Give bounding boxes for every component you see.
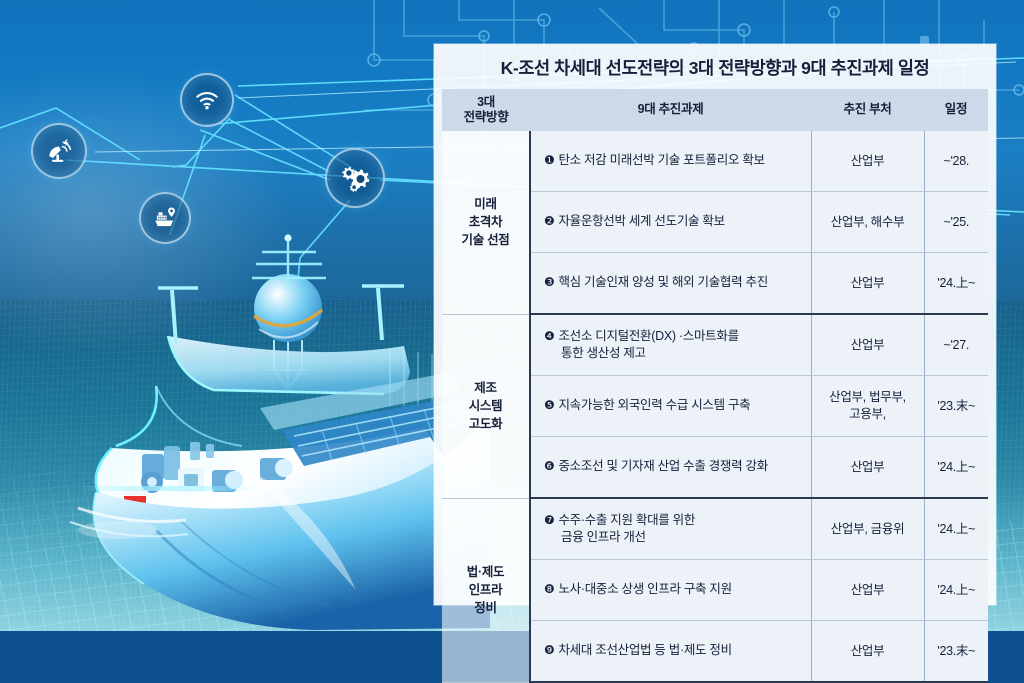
ship-glow [80, 486, 260, 491]
department-line: 산업부, 금융위 [818, 521, 918, 538]
table-row: 법·제도인프라정비❼수주·수출 지원 확대를 위한금융 인프라 개선산업부, 금… [442, 498, 988, 560]
department-cell: 산업부 [811, 253, 924, 315]
table-header-row: 3대 전략방향 9대 추진과제 추진 부처 일정 [442, 89, 988, 131]
strategic-direction-cell: 미래초격차기술 선점 [442, 131, 530, 314]
schedule-cell: ~'25. [924, 192, 988, 253]
department-cell: 산업부, 법무부,고용부, [811, 376, 924, 437]
task-cell: ❹조선소 디지털전환(DX) ·스마트화를통한 생산성 제고 [530, 314, 811, 376]
schedule-cell: ~'28. [924, 131, 988, 192]
department-cell: 산업부, 해수부 [811, 192, 924, 253]
table-header: 3대 전략방향 9대 추진과제 추진 부처 일정 [442, 89, 988, 131]
schedule-cell: '23.末~ [924, 376, 988, 437]
task-line: ❽노사·대중소 상생 인프라 구축 지원 [544, 581, 805, 598]
schedule-cell: '24.上~ [924, 437, 988, 499]
task-line: ❶탄소 저감 미래선박 기술 포트폴리오 확보 [544, 152, 805, 169]
task-cell: ❸핵심 기술인재 양성 및 해외 기술협력 추진 [530, 253, 811, 315]
task-cell: ❶탄소 저감 미래선박 기술 포트폴리오 확보 [530, 131, 811, 192]
col-header-direction-line2: 전략방향 [443, 110, 529, 125]
department-line: 산업부 [818, 643, 918, 660]
col-header-direction-line1: 3대 [443, 95, 529, 110]
department-line: 고용부, [818, 406, 918, 423]
wifi-icon [194, 87, 220, 113]
page-title: K-조선 차세대 선도전략의 3대 전략방향과 9대 추진과제 일정 [434, 44, 996, 89]
department-cell: 산업부 [811, 621, 924, 683]
task-number-badge: ❼ [544, 513, 554, 527]
table-row: 미래초격차기술 선점❶탄소 저감 미래선박 기술 포트폴리오 확보산업부~'28… [442, 131, 988, 192]
department-cell: 산업부 [811, 131, 924, 192]
task-line: ❺지속가능한 외국인력 수급 시스템 구축 [544, 397, 805, 414]
col-header-schedule: 일정 [924, 89, 988, 131]
department-cell: 산업부 [811, 314, 924, 376]
cargo-ship-location-icon [152, 205, 178, 231]
task-cell: ❼수주·수출 지원 확대를 위한금융 인프라 개선 [530, 498, 811, 560]
strategic-direction-line: 인프라 [448, 581, 523, 599]
task-cell: ❽노사·대중소 상생 인프라 구축 지원 [530, 560, 811, 621]
satellite-dish-node [31, 123, 87, 179]
schedule-cell: '24.上~ [924, 253, 988, 315]
department-cell: 산업부, 금융위 [811, 498, 924, 560]
task-line: ❻중소조선 및 기자재 산업 수출 경쟁력 강화 [544, 458, 805, 475]
schedule-panel: K-조선 차세대 선도전략의 3대 전략방향과 9대 추진과제 일정 3대 전략… [434, 44, 996, 605]
task-number-badge: ❺ [544, 398, 554, 412]
department-line: 산업부 [818, 582, 918, 599]
table-body: 미래초격차기술 선점❶탄소 저감 미래선박 기술 포트폴리오 확보산업부~'28… [442, 131, 988, 682]
schedule-cell: ~'27. [924, 314, 988, 376]
strategic-direction-line: 정비 [448, 599, 523, 617]
strategic-direction-line: 기술 선점 [448, 231, 523, 249]
task-line: ❼수주·수출 지원 확대를 위한 [544, 512, 805, 529]
task-cell: ❷자율운항선박 세계 선도기술 확보 [530, 192, 811, 253]
gears-icon [339, 162, 371, 194]
department-line: 산업부 [818, 153, 918, 170]
schedule-cell: '24.上~ [924, 560, 988, 621]
strategic-direction-cell: 법·제도인프라정비 [442, 498, 530, 682]
autonomous-ship-illustration [60, 230, 490, 630]
schedule-cell: '24.上~ [924, 498, 988, 560]
department-cell: 산업부 [811, 437, 924, 499]
department-line: 산업부 [818, 275, 918, 292]
task-line: ❾차세대 조선산업법 등 법·제도 정비 [544, 642, 805, 659]
department-line: 산업부 [818, 459, 918, 476]
task-line: 금융 인프라 개선 [544, 529, 805, 546]
col-header-dept: 추진 부처 [811, 89, 924, 131]
table-row: 제조시스템고도화❹조선소 디지털전환(DX) ·스마트화를통한 생산성 제고산업… [442, 314, 988, 376]
department-line: 산업부 [818, 337, 918, 354]
schedule-cell: '23.末~ [924, 621, 988, 683]
task-number-badge: ❶ [544, 153, 554, 167]
task-number-badge: ❽ [544, 582, 554, 596]
task-cell: ❺지속가능한 외국인력 수급 시스템 구축 [530, 376, 811, 437]
task-line: 통한 생산성 제고 [544, 345, 805, 362]
strategic-direction-line: 시스템 [448, 397, 523, 415]
task-number-badge: ❷ [544, 214, 554, 228]
task-number-badge: ❻ [544, 459, 554, 473]
strategic-direction-line: 미래 [448, 195, 523, 213]
task-line: ❹조선소 디지털전환(DX) ·스마트화를 [544, 328, 805, 345]
col-header-tasks: 9대 추진과제 [530, 89, 811, 131]
strategic-direction-line: 초격차 [448, 213, 523, 231]
task-number-badge: ❾ [544, 643, 554, 657]
strategic-direction-line: 제조 [448, 379, 523, 397]
gears-node [325, 148, 385, 208]
task-number-badge: ❹ [544, 329, 554, 343]
strategy-schedule-table: 3대 전략방향 9대 추진과제 추진 부처 일정 미래초격차기술 선점❶탄소 저… [442, 89, 988, 683]
department-cell: 산업부 [811, 560, 924, 621]
department-line: 산업부, 법무부, [818, 389, 918, 406]
task-line: ❷자율운항선박 세계 선도기술 확보 [544, 213, 805, 230]
task-cell: ❾차세대 조선산업법 등 법·제도 정비 [530, 621, 811, 683]
col-header-direction: 3대 전략방향 [442, 89, 530, 131]
strategic-direction-line: 고도화 [448, 415, 523, 433]
satellite-dish-icon [45, 137, 73, 165]
department-line: 산업부, 해수부 [818, 214, 918, 231]
task-line: ❸핵심 기술인재 양성 및 해외 기술협력 추진 [544, 274, 805, 291]
strategic-direction-line: 법·제도 [448, 563, 523, 581]
task-cell: ❻중소조선 및 기자재 산업 수출 경쟁력 강화 [530, 437, 811, 499]
task-number-badge: ❸ [544, 275, 554, 289]
wifi-node [180, 73, 234, 127]
strategic-direction-cell: 제조시스템고도화 [442, 314, 530, 498]
